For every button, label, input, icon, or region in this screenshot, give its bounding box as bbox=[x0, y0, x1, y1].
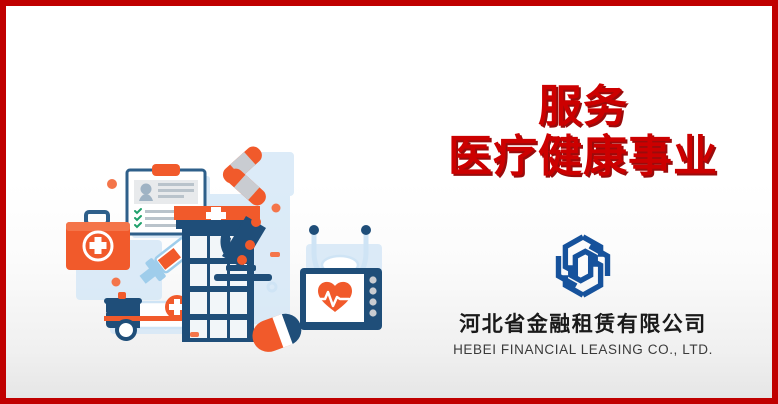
medical-healthcare-illustration bbox=[14, 94, 394, 354]
company-name-en: HEBEI FINANCIAL LEASING CO., LTD. bbox=[398, 342, 768, 357]
company-logo-block: 河北省金融租赁有限公司 HEBEI FINANCIAL LEASING CO.,… bbox=[398, 230, 768, 357]
first-aid-kit bbox=[66, 212, 130, 270]
headline-block: 服务 医疗健康事业 bbox=[398, 84, 768, 180]
poster-frame: 服务 医疗健康事业 河北省金融租赁有限公司 HEBEI FINANCIAL LE… bbox=[0, 0, 778, 404]
hebei-financial-leasing-hexagon-logo bbox=[544, 230, 622, 302]
company-name-cn: 河北省金融租赁有限公司 bbox=[398, 308, 768, 338]
heart-monitor bbox=[300, 268, 382, 330]
headline-line-2: 医疗健康事业 bbox=[398, 134, 768, 180]
headline-line-1: 服务 bbox=[398, 84, 768, 130]
